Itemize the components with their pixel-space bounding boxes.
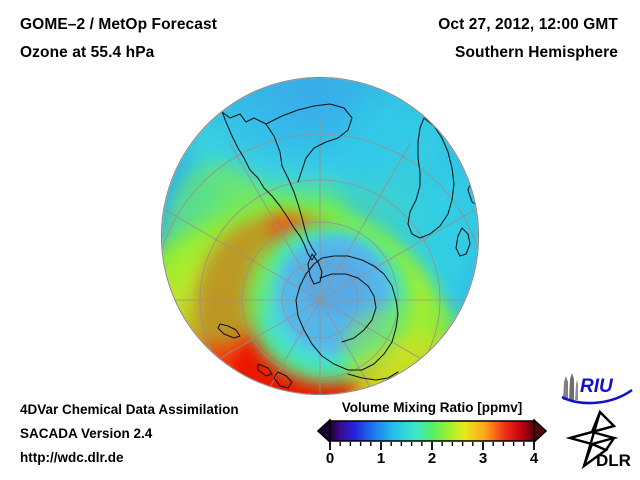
colorbar-tick-label: 4	[530, 450, 538, 467]
timestamp-label: Oct 27, 2012, 12:00 GMT	[438, 16, 618, 34]
riu-logo: RIU	[558, 370, 634, 406]
dlr-logo: DLR	[562, 410, 634, 470]
colorbar-title: Volume Mixing Ratio [ppmv]	[316, 400, 548, 415]
riu-wordmark: RIU	[580, 376, 614, 397]
colorbar-tick-label: 3	[479, 450, 487, 467]
colorbar-tick-label: 1	[377, 450, 385, 467]
title-quantity: Ozone at 55.4 hPa	[20, 44, 154, 62]
colorbar-tick-label: 2	[428, 450, 436, 467]
title-instrument: GOME–2 / MetOp Forecast	[20, 16, 217, 34]
colorbar-tick-label: 0	[326, 450, 334, 467]
colorbar-tick-labels: 01234	[316, 450, 548, 470]
hemisphere-label: Southern Hemisphere	[455, 44, 618, 62]
footer-version: SACADA Version 2.4	[20, 426, 152, 441]
dlr-wordmark: DLR	[596, 451, 631, 470]
coastline-layer	[162, 78, 478, 394]
colorbar: Volume Mixing Ratio [ppmv] 01234	[316, 400, 548, 472]
colorbar-gradient	[316, 419, 548, 443]
riu-spire-icon	[563, 373, 578, 400]
figure-canvas: GOME–2 / MetOp Forecast Ozone at 55.4 hP…	[0, 0, 640, 480]
footer-method: 4DVar Chemical Data Assimilation	[20, 402, 239, 417]
ozone-globe-map	[162, 78, 478, 394]
footer-url[interactable]: http://wdc.dlr.de	[20, 450, 124, 465]
